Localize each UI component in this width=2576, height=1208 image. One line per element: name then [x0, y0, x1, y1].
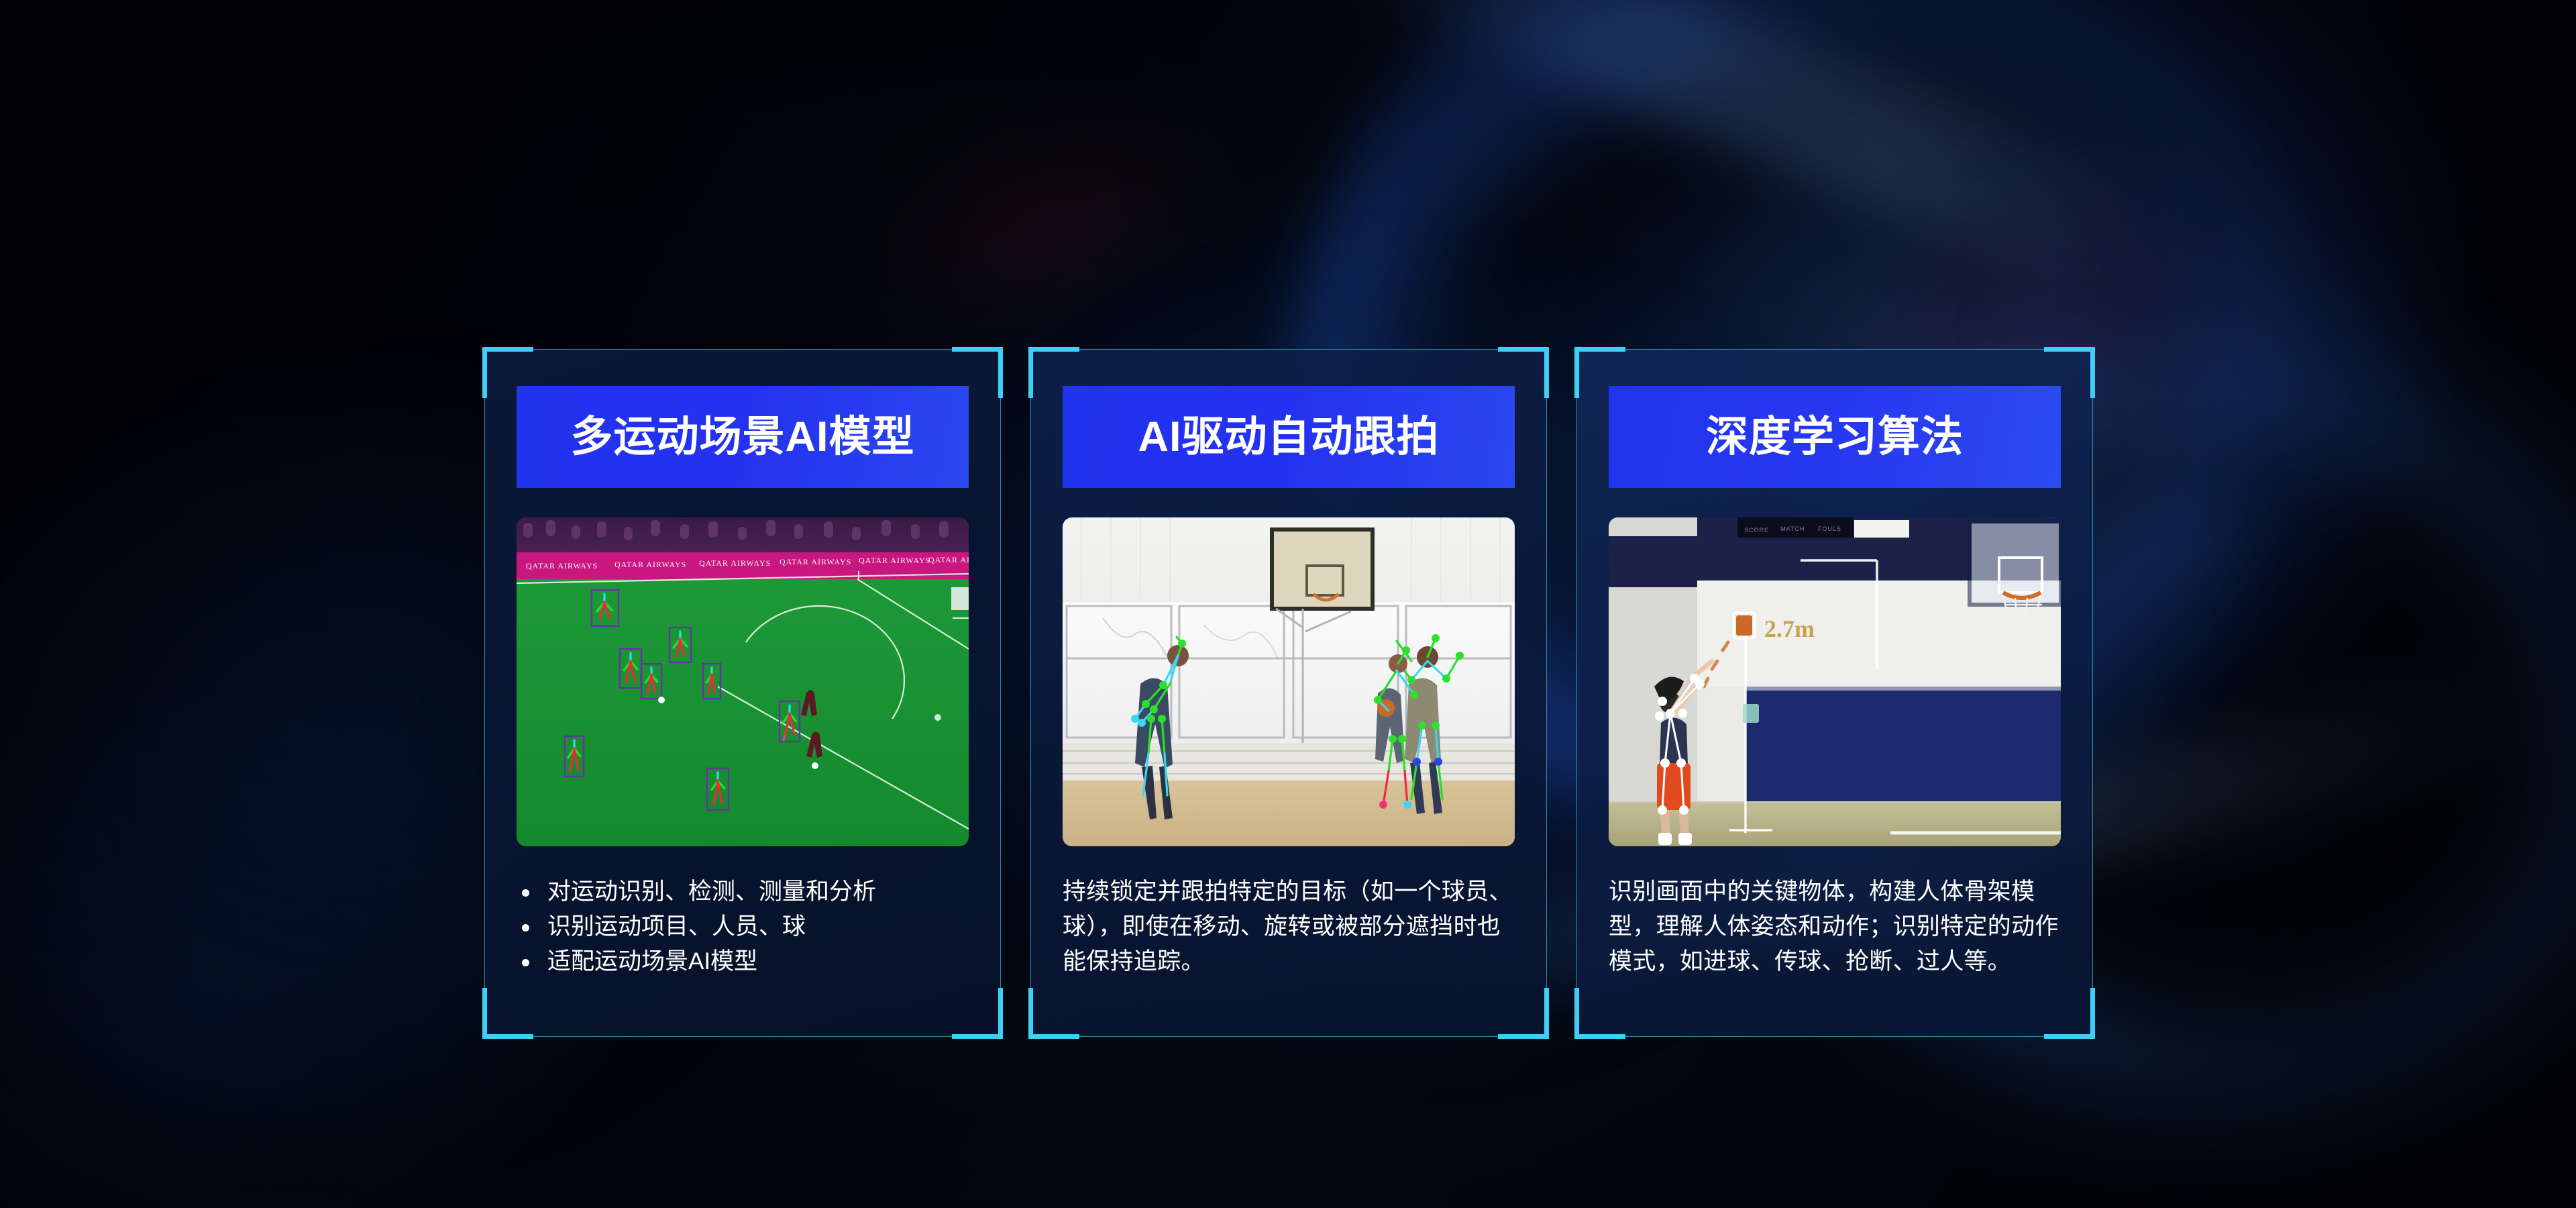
svg-text:QATAR AIRWAYS: QATAR AIRWAYS: [614, 560, 686, 569]
feature-card-ai-auto-tracking-shot[interactable]: AI驱动自动跟拍: [1030, 349, 1547, 1037]
card-title-banner: 多运动场景AI模型: [517, 386, 969, 488]
background-magenta-accent-left: [816, 56, 1276, 387]
background-light-streak-arc: [2012, 168, 2576, 772]
list-item: 对运动识别、检测、测量和分析: [517, 874, 969, 909]
svg-text:QATAR AIRWAYS: QATAR AIRWAYS: [859, 556, 930, 565]
svg-text:QATAR AIRW: QATAR AIRW: [928, 555, 969, 564]
feature-card-multi-sport-ai-model[interactable]: 多运动场景AI模型: [484, 349, 1001, 1037]
card-description: 持续锁定并跟拍特定的目标（如一个球员、球），即使在移动、旋转或被部分遮挡时也能保…: [1063, 874, 1515, 978]
card-title-banner: AI驱动自动跟拍: [1063, 386, 1515, 488]
svg-text:FOULS: FOULS: [1818, 525, 1841, 532]
card-body: 识别画面中的关键物体，构建人体骨架模型，理解人体姿态和动作；识别特定的动作模式，…: [1609, 874, 2061, 1037]
card-title: AI驱动自动跟拍: [1138, 416, 1440, 458]
soccer-field-detection-thumbnail[interactable]: QATAR AIRWAYS QATAR AIRWAYS QATAR AIRWAY…: [517, 517, 969, 846]
basketball-gym-pose-thumbnail[interactable]: [1063, 517, 1515, 846]
feature-card-row: 多运动场景AI模型: [484, 349, 2094, 1037]
card-body: 对运动识别、检测、测量和分析 识别运动项目、人员、球 适配运动场景AI模型: [517, 874, 969, 1037]
svg-text:QATAR AIRWAYS: QATAR AIRWAYS: [526, 561, 598, 570]
card-title-banner: 深度学习算法: [1609, 386, 2061, 488]
svg-text:QATAR AIRWAYS: QATAR AIRWAYS: [699, 558, 771, 568]
svg-text:SCORE: SCORE: [1744, 527, 1769, 534]
card-description: 识别画面中的关键物体，构建人体骨架模型，理解人体姿态和动作；识别特定的动作模式，…: [1609, 874, 2061, 978]
feature-card-deep-learning-algorithm[interactable]: 深度学习算法: [1576, 349, 2093, 1037]
card-title: 深度学习算法: [1706, 416, 1964, 458]
card-body: 持续锁定并跟拍特定的目标（如一个球员、球），即使在移动、旋转或被部分遮挡时也能保…: [1063, 874, 1515, 1037]
card-title: 多运动场景AI模型: [571, 416, 915, 458]
slide-stage: 多运动场景AI模型: [0, 0, 2576, 1208]
basketball-shot-measurement-thumbnail[interactable]: SCOREMATCHFOULS: [1609, 517, 2061, 846]
list-item: 适配运动场景AI模型: [517, 944, 969, 979]
svg-text:MATCH: MATCH: [1780, 525, 1805, 532]
feature-bullet-list: 对运动识别、检测、测量和分析 识别运动项目、人员、球 适配运动场景AI模型: [517, 874, 969, 978]
svg-text:QATAR AIRWAYS: QATAR AIRWAYS: [780, 557, 851, 566]
measurement-label: 2.7m: [1764, 615, 1815, 642]
list-item: 识别运动项目、人员、球: [517, 909, 969, 944]
